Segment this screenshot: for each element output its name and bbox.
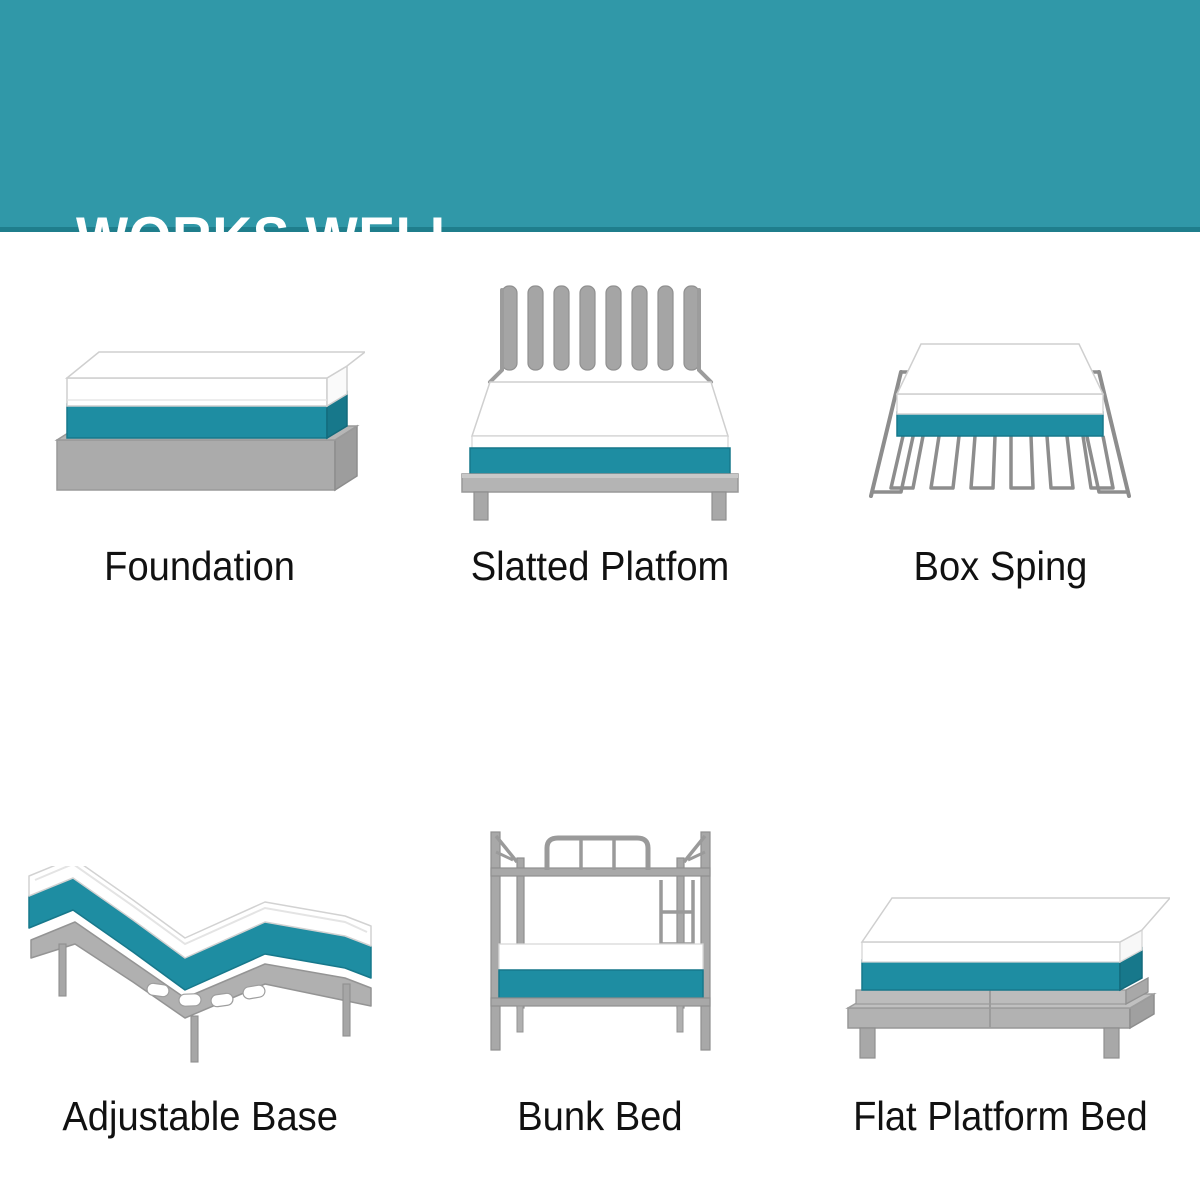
base-label-bunk-bed: Bunk Bed bbox=[517, 1094, 682, 1138]
base-label-flat-platform-bed: Flat Platform Bed bbox=[853, 1094, 1148, 1138]
base-card-box-spring[interactable]: Box Sping bbox=[800, 232, 1200, 700]
slatted-platform-bed-icon bbox=[450, 278, 750, 528]
base-card-adjustable-base[interactable]: Adjustable Base bbox=[0, 700, 400, 1200]
foundation-bed-icon bbox=[35, 322, 365, 522]
base-label-adjustable-base: Adjustable Base bbox=[62, 1094, 338, 1138]
header-banner: WORKS WELL WITH THESE BASES bbox=[0, 0, 1200, 232]
base-card-slatted-platform[interactable]: Slatted Platfom bbox=[400, 232, 800, 700]
base-label-box-spring: Box Sping bbox=[913, 544, 1087, 588]
bases-grid: Foundation bbox=[0, 232, 1200, 1200]
base-card-bunk-bed[interactable]: Bunk Bed bbox=[400, 700, 800, 1200]
base-label-foundation: Foundation bbox=[105, 544, 296, 588]
base-card-foundation[interactable]: Foundation bbox=[0, 232, 400, 700]
flat-platform-bed-icon bbox=[830, 876, 1170, 1076]
base-label-slatted-platform: Slatted Platfom bbox=[471, 544, 730, 588]
bunk-bed-icon bbox=[455, 822, 745, 1082]
adjustable-base-bed-icon bbox=[15, 866, 385, 1076]
infographic-page: WORKS WELL WITH THESE BASES bbox=[0, 0, 1200, 1200]
base-card-flat-platform-bed[interactable]: Flat Platform Bed bbox=[800, 700, 1200, 1200]
box-spring-bed-icon bbox=[835, 324, 1165, 524]
